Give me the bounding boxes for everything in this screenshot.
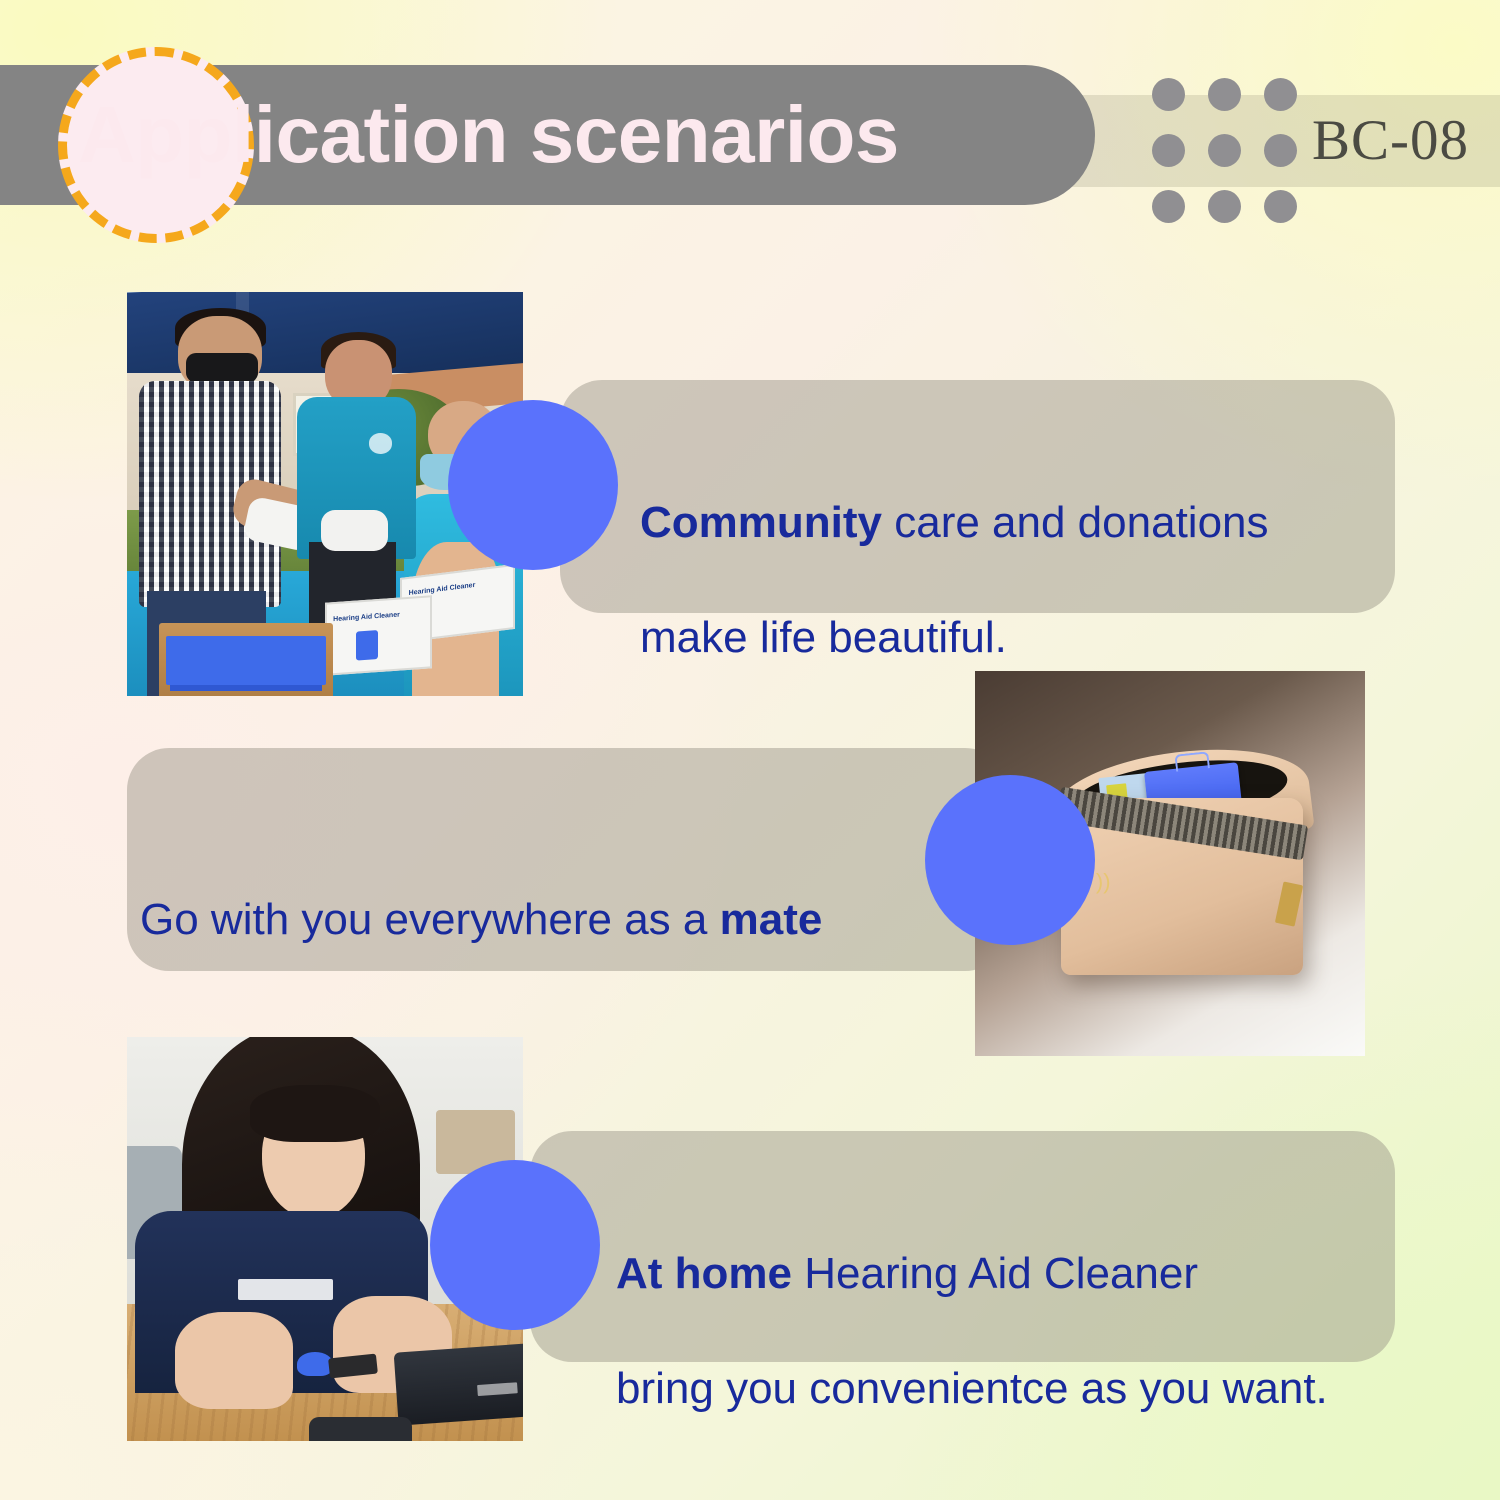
grid-dot <box>1152 78 1185 111</box>
model-number: BC-08 <box>1312 108 1469 173</box>
scenario-lead-at-home: At home <box>616 1249 792 1298</box>
storage-pouch <box>394 1343 523 1425</box>
grid-dot <box>1264 190 1297 223</box>
grid-dot <box>1208 190 1241 223</box>
scenario-line2-community: make life beautiful. <box>640 613 1007 662</box>
accent-circle-community <box>448 400 618 570</box>
grid-dot <box>1264 78 1297 111</box>
scenario-text-community: Community care and donations make life b… <box>640 437 1370 666</box>
accent-circle-at-home <box>430 1160 600 1330</box>
scenario-text-portable: Go with you everywhere as a mate <box>140 834 930 948</box>
cardboard-carton <box>159 623 333 696</box>
grid-dot <box>1264 134 1297 167</box>
scenario-text-at-home: At home Hearing Aid Cleaner bring you co… <box>616 1188 1406 1417</box>
infographic-page: Application scenarios BC-08 Hearing Aid … <box>0 0 1500 1500</box>
page-title: Application scenarios <box>78 65 1098 205</box>
grid-dot <box>1208 134 1241 167</box>
product-box-label: Hearing Aid Cleaner <box>333 611 400 626</box>
sound-wave-icon: )) <box>1096 871 1143 917</box>
scenario-rest-at-home: Hearing Aid Cleaner <box>792 1249 1198 1298</box>
scenario-lead-community: Community <box>640 498 882 547</box>
scenario-lead-portable: mate <box>720 895 823 944</box>
scenario-rest-portable: Go with you everywhere as a <box>140 895 720 944</box>
product-box: Hearing Aid Cleaner <box>325 595 432 675</box>
grid-dot <box>1208 78 1241 111</box>
dot-grid-decoration <box>1152 78 1297 223</box>
grid-dot <box>1152 190 1185 223</box>
scenario-rest-community: care and donations <box>882 498 1269 547</box>
cleaner-tool <box>297 1352 333 1376</box>
scenario-line2-at-home: bring you convenientce as you want. <box>616 1364 1328 1413</box>
grid-dot <box>1152 134 1185 167</box>
accent-circle-portable <box>925 775 1095 945</box>
